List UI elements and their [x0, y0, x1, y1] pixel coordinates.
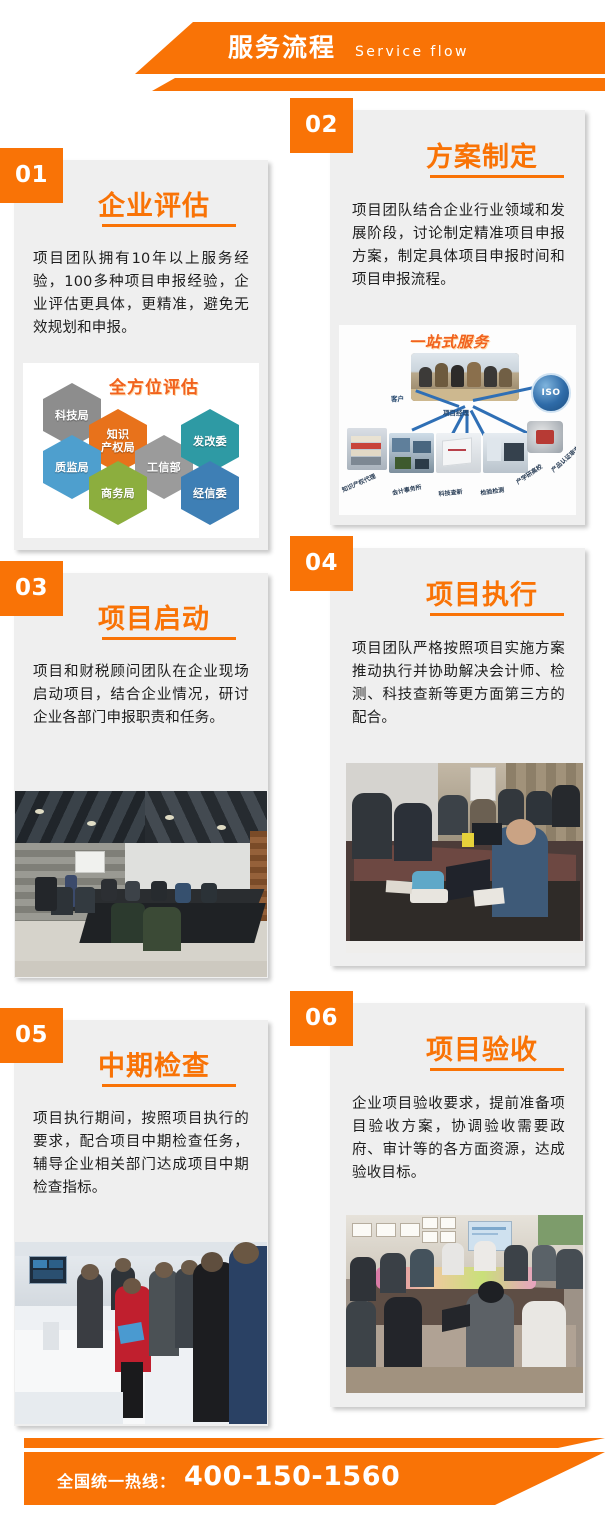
- hex-label: 知识 产权局: [101, 428, 135, 454]
- card-05-photo: [15, 1242, 267, 1424]
- card-01-body: 项目团队拥有10年以上服务经验，100多种项目申报经验，企业评估更具体，更精准，…: [33, 248, 249, 340]
- header-stripe: [0, 78, 605, 91]
- hex-label: 科技局: [55, 409, 89, 422]
- service-thumb-inspection: [483, 433, 528, 473]
- page-subtitle: Service flow: [355, 36, 469, 68]
- card-03-photo: [15, 791, 267, 977]
- service-thumb-ip: [347, 428, 387, 470]
- hex-diagram-title: 全方位评估: [109, 373, 199, 398]
- card-04-title: 项目执行: [426, 573, 538, 612]
- step-card-05: 中期检查 项目执行期间，按照项目执行的要求，配合项目中期检查任务，辅导企业相关部…: [14, 1020, 268, 1426]
- card-01-title: 企业评估: [98, 184, 210, 223]
- card-04-photo: [346, 763, 583, 953]
- service-thumb-accounting: [389, 433, 434, 473]
- hex-label: 发改委: [193, 435, 227, 448]
- service-bottom-label-3: 检验检测: [480, 485, 505, 497]
- service-bottom-label-2: 科技查新: [438, 487, 463, 498]
- card-02-number-badge: 02: [290, 98, 353, 153]
- service-diagram-title: 一站式服务: [409, 331, 489, 352]
- card-05-title: 中期检查: [98, 1044, 210, 1083]
- footer-stripe: [24, 1438, 605, 1448]
- hex-label: 质监局: [55, 461, 89, 474]
- step-card-04: 项目执行 项目团队严格按照项目实施方案推动执行并协助解决会计师、检测、科技查新等…: [330, 548, 585, 966]
- step-card-06: 项目验收 企业项目验收要求，提前准备项目验收方案，协调验收需要政府、审计等的各方…: [330, 1003, 585, 1407]
- card-03-rule: [102, 637, 236, 640]
- hex-label: 工信部: [147, 461, 181, 474]
- card-05-number-badge: 05: [0, 1008, 63, 1063]
- card-01-rule: [102, 224, 236, 227]
- service-bottom-label-0: 知识产权代理: [340, 471, 377, 494]
- card-02-title: 方案制定: [426, 135, 538, 174]
- hotline-phone[interactable]: 400-150-1560: [184, 1461, 400, 1492]
- card-06-title: 项目验收: [426, 1028, 538, 1067]
- card-06-number-badge: 06: [290, 991, 353, 1046]
- step-card-01: 企业评估 项目团队拥有10年以上服务经验，100多种项目申报经验，企业评估更具体…: [14, 160, 268, 550]
- card-04-body: 项目团队严格按照项目实施方案推动执行并协助解决会计师、检测、科技查新等更方面第三…: [352, 638, 565, 730]
- card-06-rule: [430, 1068, 564, 1071]
- page-title: 服务流程: [228, 27, 336, 69]
- service-thumb-search: [436, 433, 481, 473]
- card-06-body: 企业项目验收要求，提前准备项目验收方案，协调验收需要政府、审计等的各方面资源，达…: [352, 1093, 565, 1185]
- card-01-number-badge: 01: [0, 148, 63, 203]
- iso-seal-text: ISO: [542, 388, 561, 398]
- one-stop-service-diagram: 一站式服务 客户 项目经理: [339, 325, 576, 515]
- iso-seal-icon: ISO: [531, 373, 571, 413]
- card-03-body: 项目和财税顾问团队在企业现场启动项目，结合企业情况，研讨企业各部门申报职责和任务…: [33, 661, 249, 730]
- card-04-rule: [430, 613, 564, 616]
- assessment-hex-diagram: 全方位评估 科技局 知识 产权局 质监局 工信部 商务局 发改委 经信委: [23, 363, 259, 538]
- infographic-page: 服务流程 Service flow 企业评估 项目团队拥有10年以上服务经验，1…: [0, 0, 605, 1538]
- step-card-03: 项目启动 项目和财税顾问团队在企业现场启动项目，结合企业情况，研讨企业各部门申报…: [14, 573, 268, 978]
- service-thumb-university: [527, 421, 563, 453]
- hex-label: 商务局: [101, 487, 135, 500]
- card-05-rule: [102, 1084, 236, 1087]
- page-header: 服务流程 Service flow: [0, 0, 605, 108]
- card-03-title: 项目启动: [98, 597, 210, 636]
- service-bottom-label-1: 会计事务所: [391, 482, 422, 497]
- service-label-project-manager: 项目经理: [443, 407, 469, 417]
- hotline-label: 全国统一热线：: [57, 1468, 176, 1492]
- card-04-number-badge: 04: [290, 536, 353, 591]
- card-02-rule: [430, 175, 564, 178]
- step-card-02: 方案制定 项目团队结合企业行业领域和发展阶段，讨论制定精准项目申报方案，制定具体…: [330, 110, 585, 525]
- card-06-photo: [346, 1215, 583, 1393]
- hex-label: 经信委: [193, 487, 227, 500]
- card-05-body: 项目执行期间，按照项目执行的要求，配合项目中期检查任务，辅导企业相关部门达成项目…: [33, 1108, 249, 1200]
- service-label-customer: 客户: [391, 393, 404, 403]
- card-02-body: 项目团队结合企业行业领域和发展阶段，讨论制定精准项目申报方案，制定具体项目申报时…: [352, 200, 565, 292]
- card-03-number-badge: 03: [0, 561, 63, 616]
